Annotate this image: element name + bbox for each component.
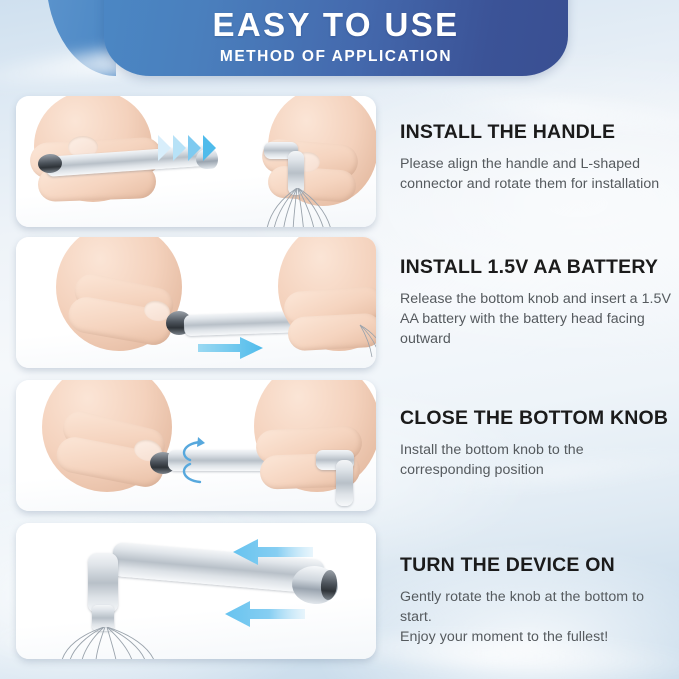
- step-text-block: TURN THE DEVICE ON Gently rotate the kno…: [376, 523, 676, 647]
- arrow-left-icon: [224, 601, 306, 632]
- whisk-wires: [264, 188, 334, 227]
- banner-subtitle: METHOD OF APPLICATION: [220, 49, 452, 65]
- step-photo-install-handle: [16, 96, 376, 227]
- step-row: CLOSE THE BOTTOM KNOB Install the bottom…: [0, 380, 679, 511]
- header-banner: EASY TO USE METHOD OF APPLICATION: [104, 0, 568, 76]
- step-photo-turn-on: [16, 523, 376, 659]
- step-row: INSTALL THE HANDLE Please align the hand…: [0, 96, 679, 227]
- step-photo-close-knob: [16, 380, 376, 511]
- step-title: TURN THE DEVICE ON: [400, 555, 676, 576]
- l-connector-stem: [336, 460, 353, 506]
- step-description: Gently rotate the knob at the bottom to …: [400, 588, 676, 647]
- banner-title: EASY TO USE: [212, 8, 459, 41]
- step-description: Install the bottom knob to the correspon…: [400, 441, 676, 480]
- step-description: Please align the handle and L-shaped con…: [400, 155, 676, 194]
- step-row: INSTALL 1.5V AA BATTERY Release the bott…: [0, 237, 679, 368]
- steps-list: INSTALL THE HANDLE Please align the hand…: [0, 96, 679, 669]
- step-photo-install-battery: [16, 237, 376, 368]
- rotate-arrow-icon: [176, 434, 206, 490]
- arrow-left-icon: [232, 539, 314, 570]
- l-elbow: [88, 553, 118, 613]
- arrow-right-icon: [198, 337, 264, 364]
- whisk-wires: [60, 627, 156, 659]
- step-text-block: INSTALL THE HANDLE Please align the hand…: [376, 96, 676, 195]
- whisk-wires: [358, 323, 376, 359]
- step-title: CLOSE THE BOTTOM KNOB: [400, 408, 676, 429]
- step-text-block: INSTALL 1.5V AA BATTERY Release the bott…: [376, 237, 676, 349]
- step-title: INSTALL THE HANDLE: [400, 122, 676, 143]
- step-row: TURN THE DEVICE ON Gently rotate the kno…: [0, 523, 679, 659]
- step-title: INSTALL 1.5V AA BATTERY: [400, 257, 676, 278]
- step-description: Release the bottom knob and insert a 1.5…: [400, 290, 676, 349]
- step-text-block: CLOSE THE BOTTOM KNOB Install the bottom…: [376, 380, 676, 481]
